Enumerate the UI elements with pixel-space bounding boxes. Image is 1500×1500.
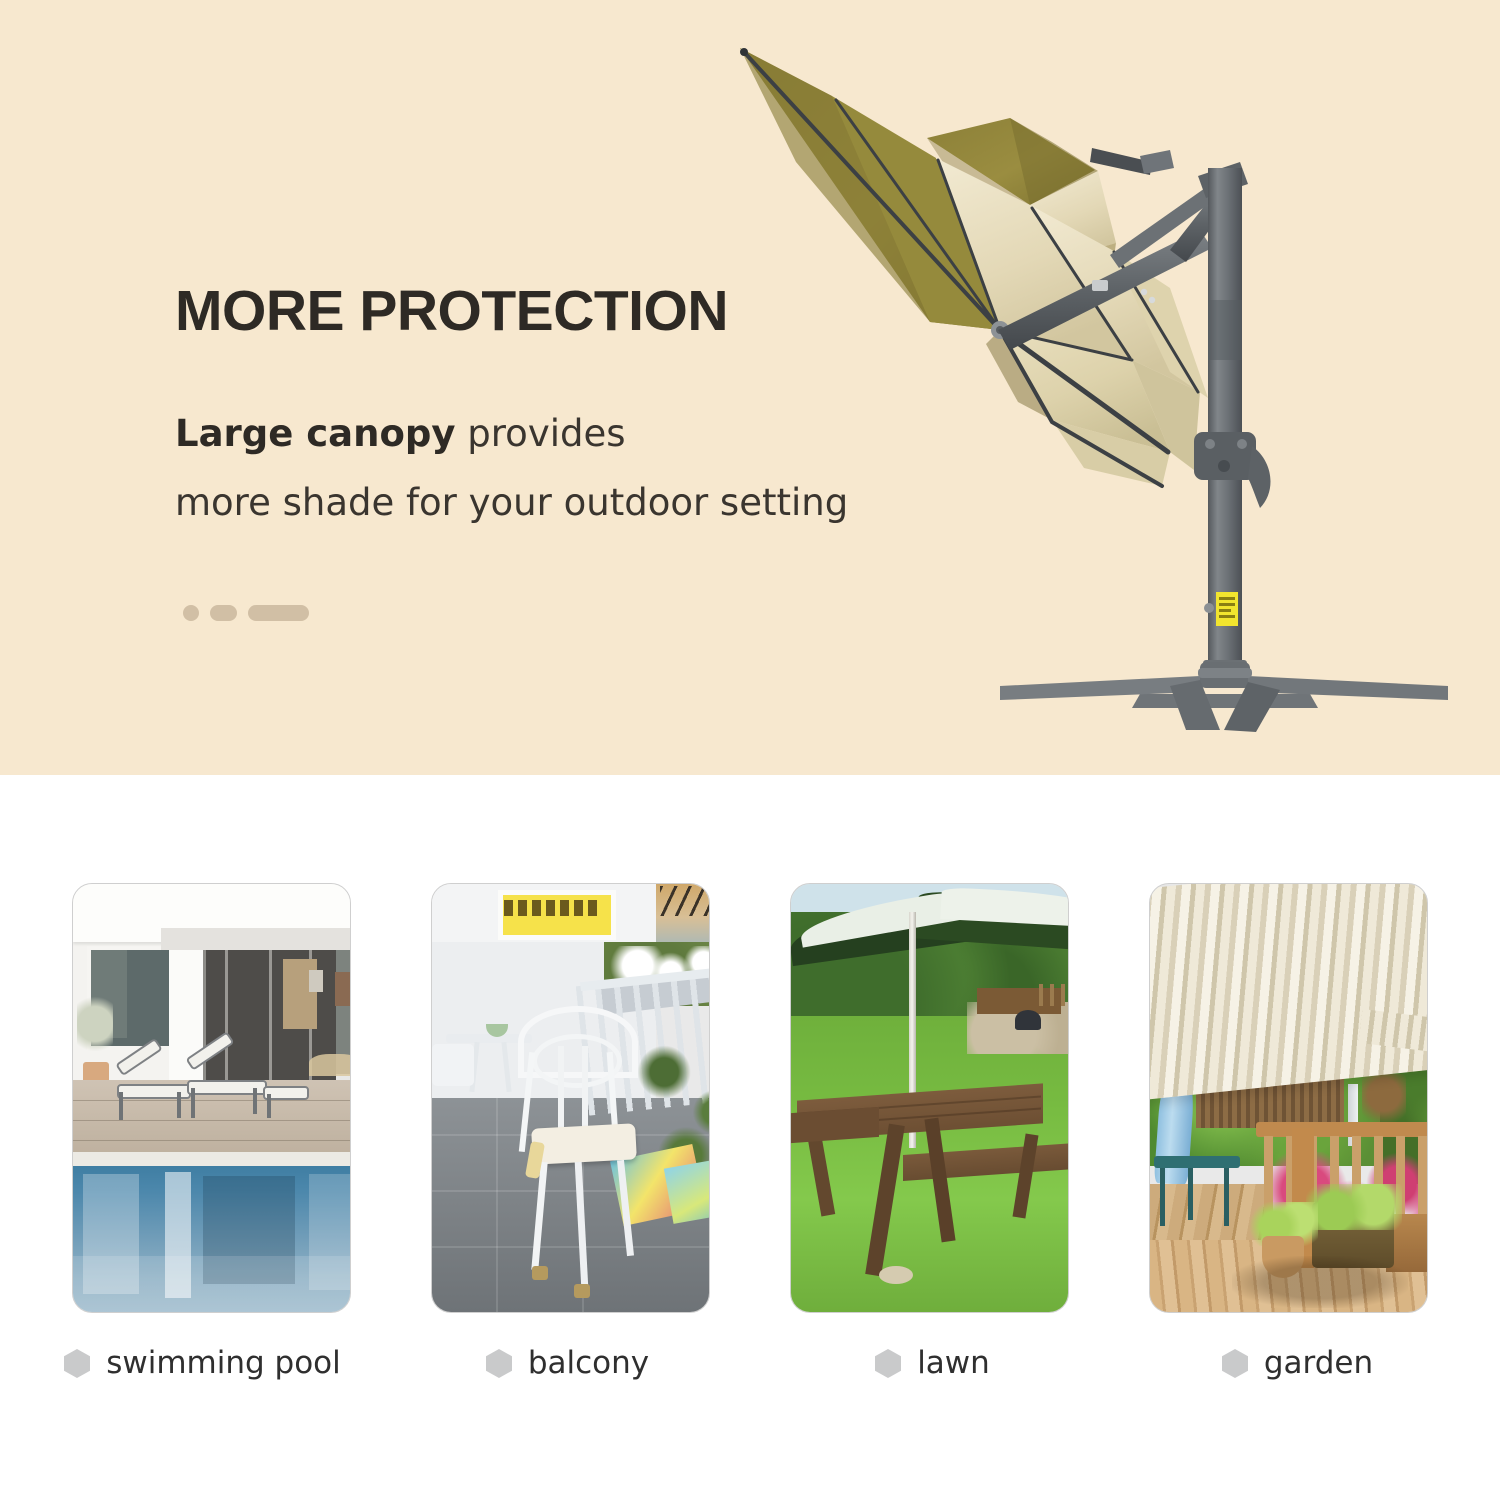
scene-thumbnail-balcony[interactable] — [431, 883, 710, 1313]
caption-label: swimming pool — [106, 1345, 341, 1381]
pip-short — [210, 605, 237, 621]
cross-base-stand — [1000, 662, 1448, 732]
hero-panel: MORE PROTECTION Large canopy provides mo… — [0, 0, 1500, 775]
caption-swimming-pool: swimming pool — [32, 1333, 373, 1393]
scene-thumbnail-garden[interactable] — [1149, 883, 1428, 1313]
decorative-pips — [183, 605, 309, 621]
photo-poolside-villa — [73, 884, 350, 1312]
hexagon-icon — [486, 1349, 512, 1378]
photo-picnic-table-lawn — [791, 884, 1068, 1312]
product-image-cantilever-umbrella — [700, 0, 1500, 775]
hexagon-icon — [64, 1349, 90, 1378]
hexagon-icon — [875, 1349, 901, 1378]
caption-balcony: balcony — [397, 1333, 738, 1393]
pip-long — [248, 605, 309, 621]
hero-subtitle-emphasis: Large canopy — [175, 412, 456, 455]
caption-lawn: lawn — [762, 1333, 1103, 1393]
caption-label: balcony — [528, 1345, 649, 1381]
caption-label: lawn — [917, 1345, 990, 1381]
caption-row: swimming pool balcony lawn garden — [32, 1333, 1468, 1393]
hero-subtitle-rest: provides — [456, 412, 626, 455]
scene-thumbnail-lawn[interactable] — [790, 883, 1069, 1313]
usage-scenes-gallery: swimming pool balcony lawn garden — [0, 775, 1500, 1500]
hexagon-icon — [1222, 1349, 1248, 1378]
caption-garden: garden — [1127, 1333, 1468, 1393]
pip-dot — [183, 605, 199, 621]
photo-balcony-iron-chair — [432, 884, 709, 1312]
thumbnail-row — [32, 867, 1468, 1295]
photo-deck-with-awning — [1150, 884, 1427, 1312]
hero-subtitle-line-1: Large canopy provides — [175, 415, 626, 452]
scene-thumbnail-swimming-pool[interactable] — [72, 883, 351, 1313]
caption-label: garden — [1264, 1345, 1373, 1381]
product-feature-page: MORE PROTECTION Large canopy provides mo… — [0, 0, 1500, 1500]
